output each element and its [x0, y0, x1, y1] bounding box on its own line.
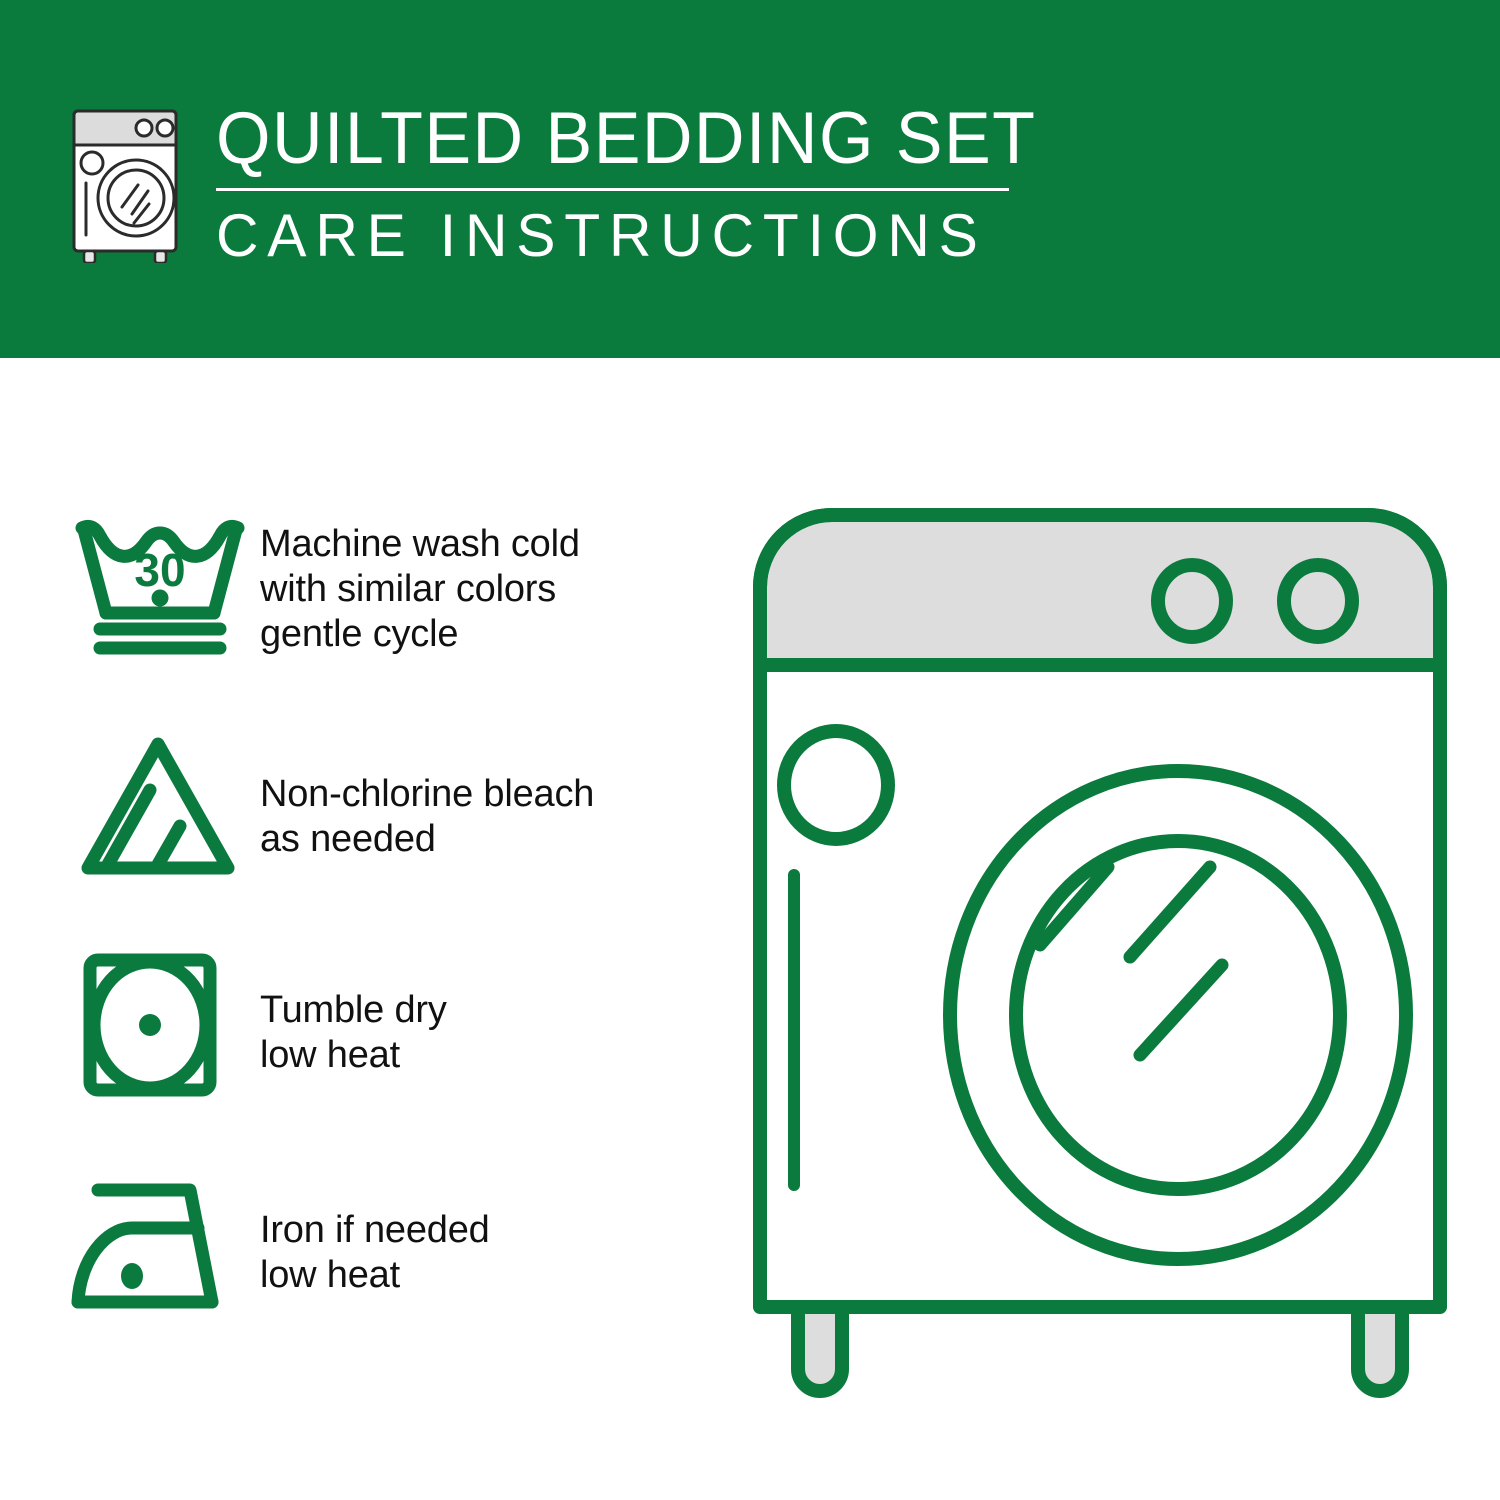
- wash-temperature-label: 30: [134, 544, 185, 596]
- page-title: QUILTED BEDDING SET: [216, 96, 984, 182]
- care-text-line: Tumble dry: [260, 988, 710, 1033]
- care-instruction-list: 30 Machine wash cold with similar colors…: [70, 500, 710, 1380]
- care-item-text: Tumble dry low heat: [260, 940, 710, 1078]
- care-text-line: Machine wash cold: [260, 522, 710, 567]
- header-divider: [216, 188, 1009, 191]
- care-item-tumble-dry: Tumble dry low heat: [70, 940, 710, 1160]
- washing-machine-icon: [60, 103, 190, 263]
- care-item-text: Machine wash cold with similar colors ge…: [260, 500, 710, 657]
- care-item-iron: Iron if needed low heat: [70, 1160, 710, 1380]
- care-text-line: Iron if needed: [260, 1208, 710, 1253]
- care-item-text: Non-chlorine bleach as needed: [260, 720, 710, 862]
- iron-icon: [70, 1160, 260, 1330]
- header-text-block: QUILTED BEDDING SET CARE INSTRUCTIONS: [216, 96, 1016, 270]
- wash-tub-30-icon: 30: [70, 500, 260, 670]
- care-item-machine-wash: 30 Machine wash cold with similar colors…: [70, 500, 710, 720]
- bleach-triangle-icon: [70, 720, 260, 890]
- tumble-dry-icon: [70, 940, 260, 1110]
- care-text-line: low heat: [260, 1253, 710, 1298]
- washer-leg: [798, 1307, 1402, 1391]
- washing-machine-illustration: [740, 495, 1460, 1415]
- header-band: QUILTED BEDDING SET CARE INSTRUCTIONS: [0, 0, 1500, 358]
- care-text-line: as needed: [260, 817, 710, 862]
- care-text-line: low heat: [260, 1033, 710, 1078]
- care-item-text: Iron if needed low heat: [260, 1160, 710, 1298]
- care-text-line: with similar colors: [260, 567, 710, 612]
- care-text-line: gentle cycle: [260, 612, 710, 657]
- page-subtitle: CARE INSTRUCTIONS: [216, 202, 1000, 270]
- care-item-bleach: Non-chlorine bleach as needed: [70, 720, 710, 940]
- care-text-line: Non-chlorine bleach: [260, 772, 710, 817]
